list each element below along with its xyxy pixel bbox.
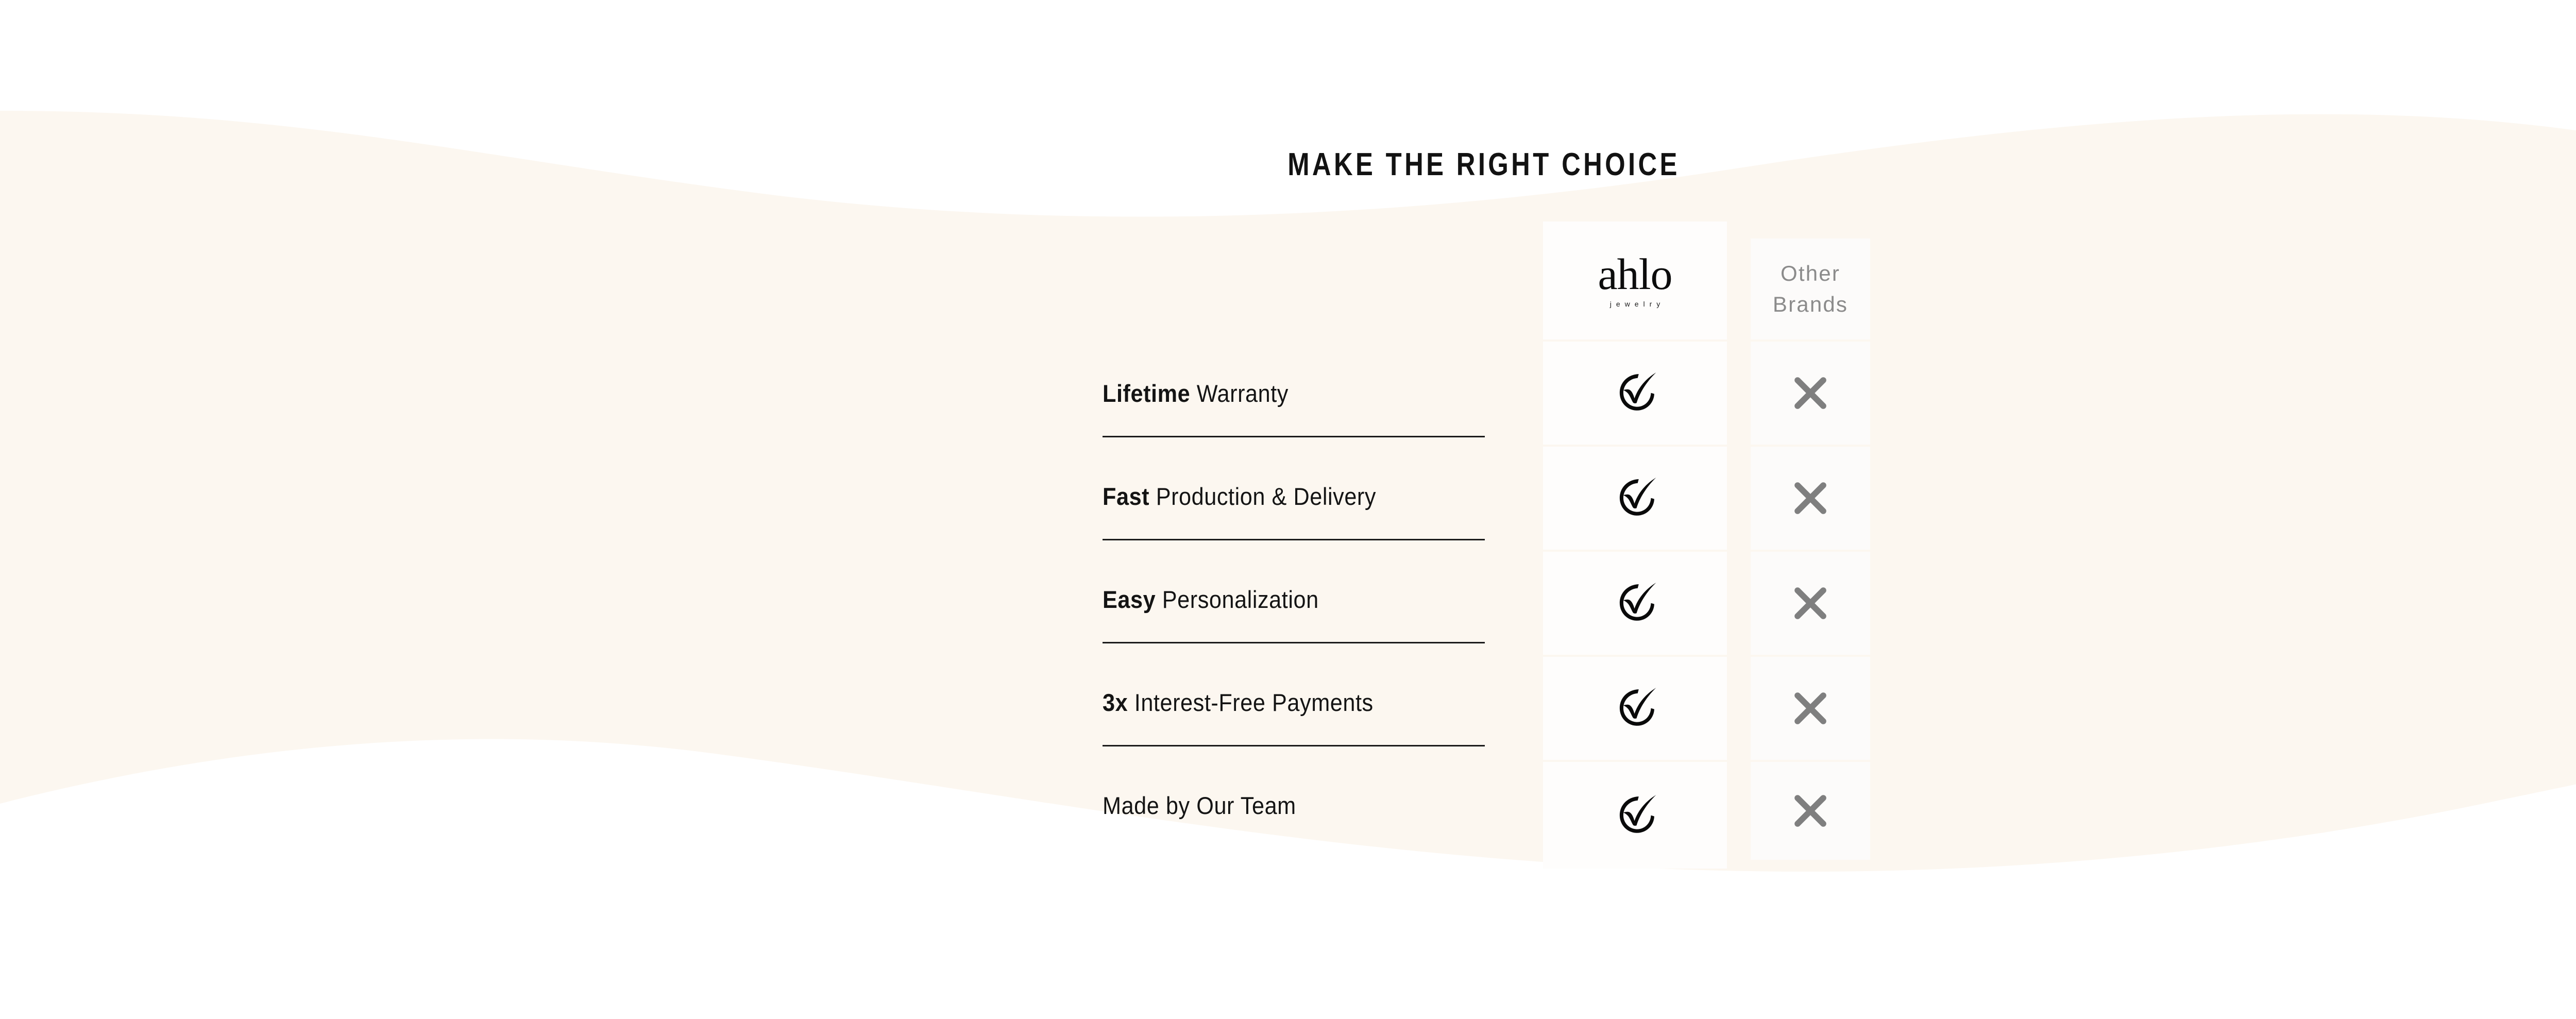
cross-icon [1790, 478, 1831, 518]
brand-column: ahlo jewelry [1543, 222, 1727, 871]
row-divider [1103, 642, 1485, 643]
feature-label-rest: Personalization [1156, 586, 1319, 613]
feature-label-rest: Production & Delivery [1149, 483, 1376, 510]
feature-label: 3x Interest-Free Payments [1103, 690, 1374, 715]
logo-wordmark: ahlo [1598, 253, 1672, 296]
brand-cell [1543, 657, 1727, 760]
other-brands-label: Other Brands [1772, 258, 1849, 319]
feature-label: Lifetime Warranty [1103, 381, 1289, 405]
other-brands-column-header: Other Brands [1751, 239, 1870, 339]
cross-icon [1790, 373, 1831, 413]
feature-label-highlight: Fast [1103, 483, 1149, 510]
comparison-section: MAKE THE RIGHT CHOICE Lifetime Warranty … [0, 0, 2576, 1019]
check-circle-icon [1608, 366, 1662, 420]
cross-icon [1790, 583, 1831, 623]
page-title: MAKE THE RIGHT CHOICE [267, 149, 2576, 181]
table-row: Made by Our Team [1103, 754, 1486, 857]
table-row: Fast Production & Delivery [1103, 445, 1486, 548]
logo-tagline: jewelry [1598, 300, 1672, 308]
table-row: Lifetime Warranty [1103, 342, 1486, 445]
other-brands-cell [1751, 552, 1870, 655]
table-row: Easy Personalization [1103, 548, 1486, 651]
row-divider [1103, 539, 1485, 540]
other-brands-cell [1751, 657, 1870, 760]
feature-label-highlight: Easy [1103, 586, 1156, 613]
check-circle-icon [1608, 682, 1662, 735]
row-divider [1103, 436, 1485, 437]
feature-label: Fast Production & Delivery [1103, 484, 1376, 508]
table-row: 3x Interest-Free Payments [1103, 651, 1486, 754]
feature-label-highlight: 3x [1103, 689, 1128, 716]
check-circle-icon [1608, 789, 1662, 842]
feature-label-highlight: Lifetime [1103, 380, 1190, 407]
brand-cell [1543, 552, 1727, 655]
check-circle-icon [1608, 471, 1662, 525]
feature-label-rest: Interest-Free Payments [1128, 689, 1374, 716]
brand-column-header: ahlo jewelry [1543, 222, 1727, 339]
brand-cell [1543, 762, 1727, 869]
feature-label-column: Lifetime Warranty Fast Production & Deli… [1103, 222, 1486, 857]
feature-label: Made by Our Team [1103, 793, 1296, 818]
other-brands-cell [1751, 342, 1870, 445]
ahlo-logo: ahlo jewelry [1598, 253, 1672, 308]
feature-label-rest: Warranty [1190, 380, 1289, 407]
other-brands-column: Other Brands [1751, 222, 1870, 862]
brand-cell [1543, 342, 1727, 445]
cross-icon [1790, 688, 1831, 728]
comparison-table: Lifetime Warranty Fast Production & Deli… [1103, 222, 1875, 860]
feature-label: Easy Personalization [1103, 587, 1319, 612]
cross-icon [1790, 791, 1831, 831]
check-circle-icon [1608, 576, 1662, 630]
other-brands-cell [1751, 447, 1870, 550]
feature-label-rest: Made by Our Team [1103, 792, 1296, 819]
row-divider [1103, 745, 1485, 746]
brand-cell [1543, 447, 1727, 550]
other-brands-cell [1751, 762, 1870, 860]
